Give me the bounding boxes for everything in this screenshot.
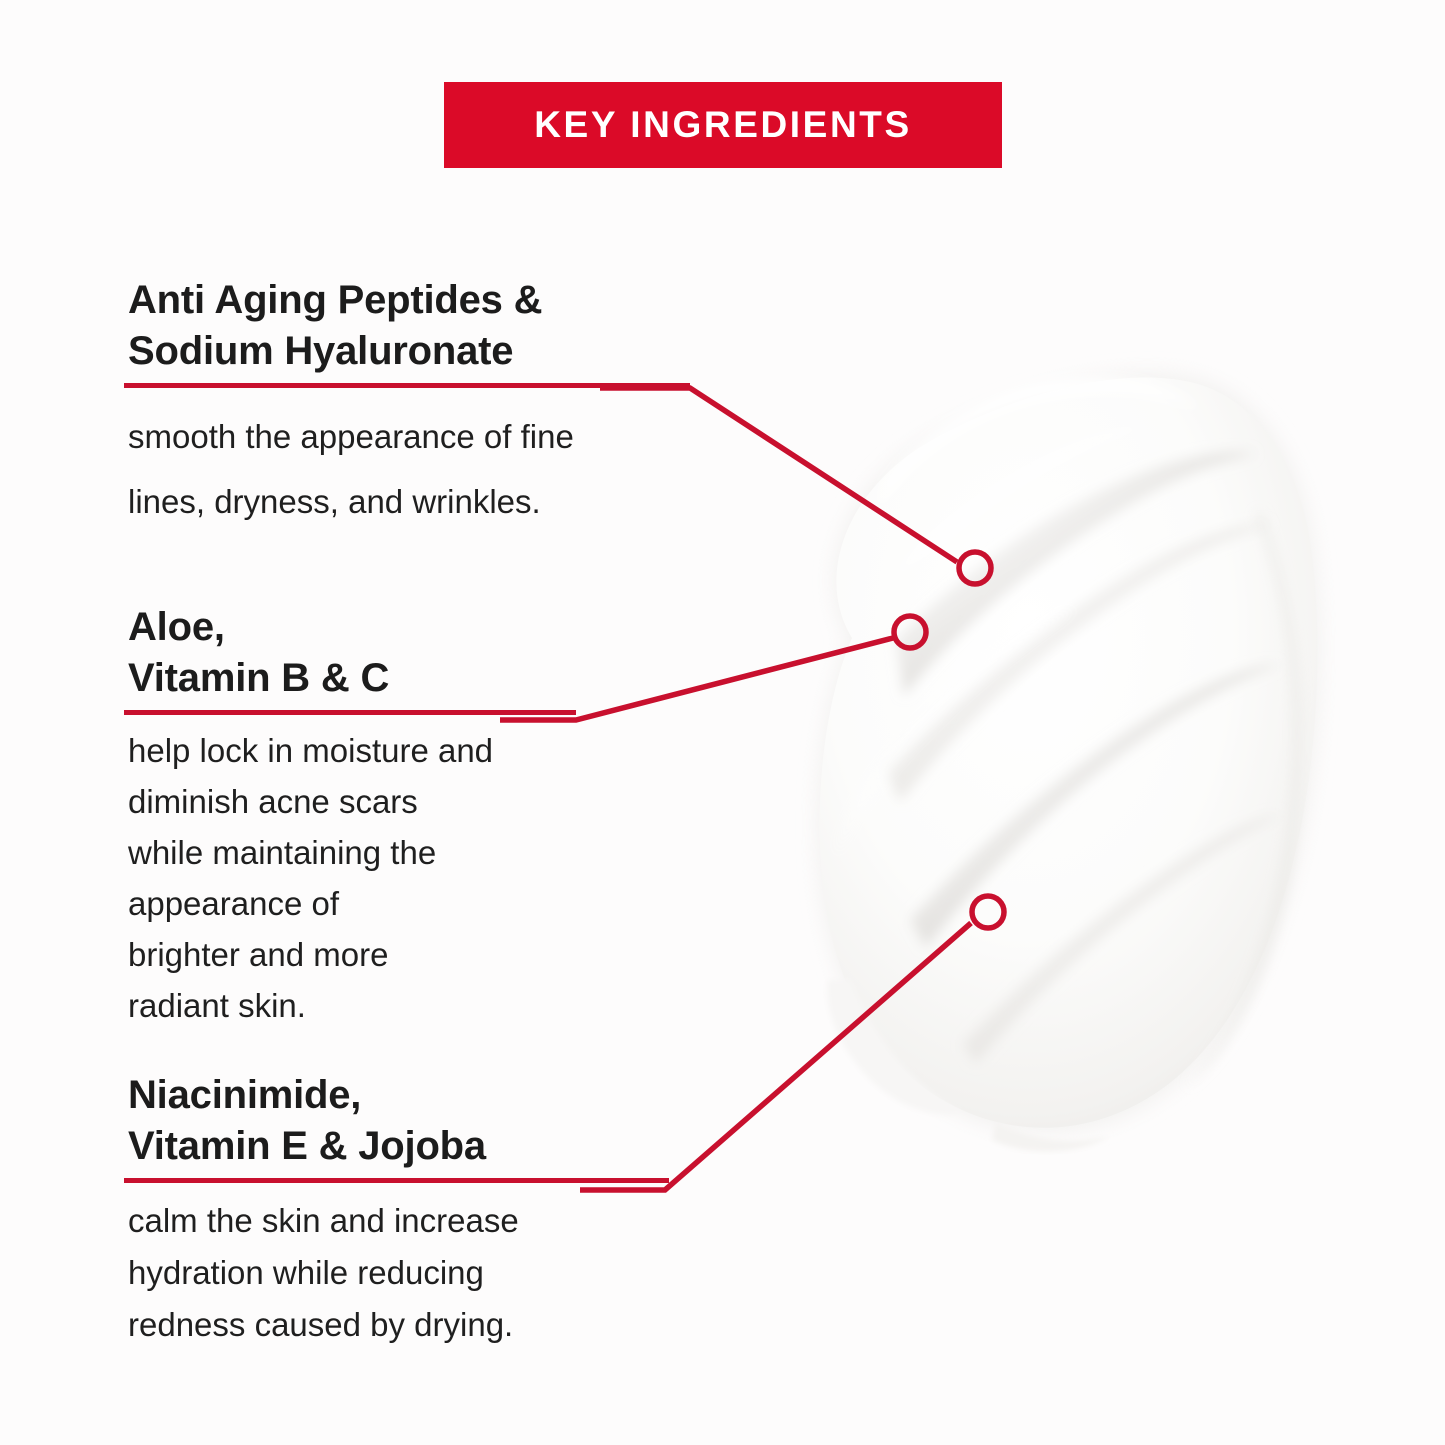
- ingredient-heading-1: Anti Aging Peptides & Sodium Hyaluronate: [128, 275, 690, 377]
- ingredient-description-1: smooth the appearance of fine lines, dry…: [128, 388, 690, 534]
- ingredient-block-2: Aloe, Vitamin B & C help lock in moistur…: [124, 602, 576, 1031]
- ingredient-heading-2: Aloe, Vitamin B & C: [128, 602, 576, 704]
- ingredient-block-3: Niacinimide, Vitamin E & Jojoba calm the…: [124, 1070, 669, 1351]
- ingredient-description-3: calm the skin and increase hydration whi…: [128, 1183, 669, 1351]
- ingredient-heading-3: Niacinimide, Vitamin E & Jojoba: [128, 1070, 669, 1172]
- ingredient-description-2: help lock in moisture and diminish acne …: [128, 715, 576, 1031]
- key-ingredients-banner: KEY INGREDIENTS: [444, 82, 1002, 168]
- key-ingredients-infographic: KEY INGREDIENTS: [0, 0, 1445, 1445]
- ingredient-block-1: Anti Aging Peptides & Sodium Hyaluronate…: [124, 275, 690, 534]
- page-title: KEY INGREDIENTS: [534, 104, 912, 146]
- cream-swatch-image: [700, 340, 1340, 1170]
